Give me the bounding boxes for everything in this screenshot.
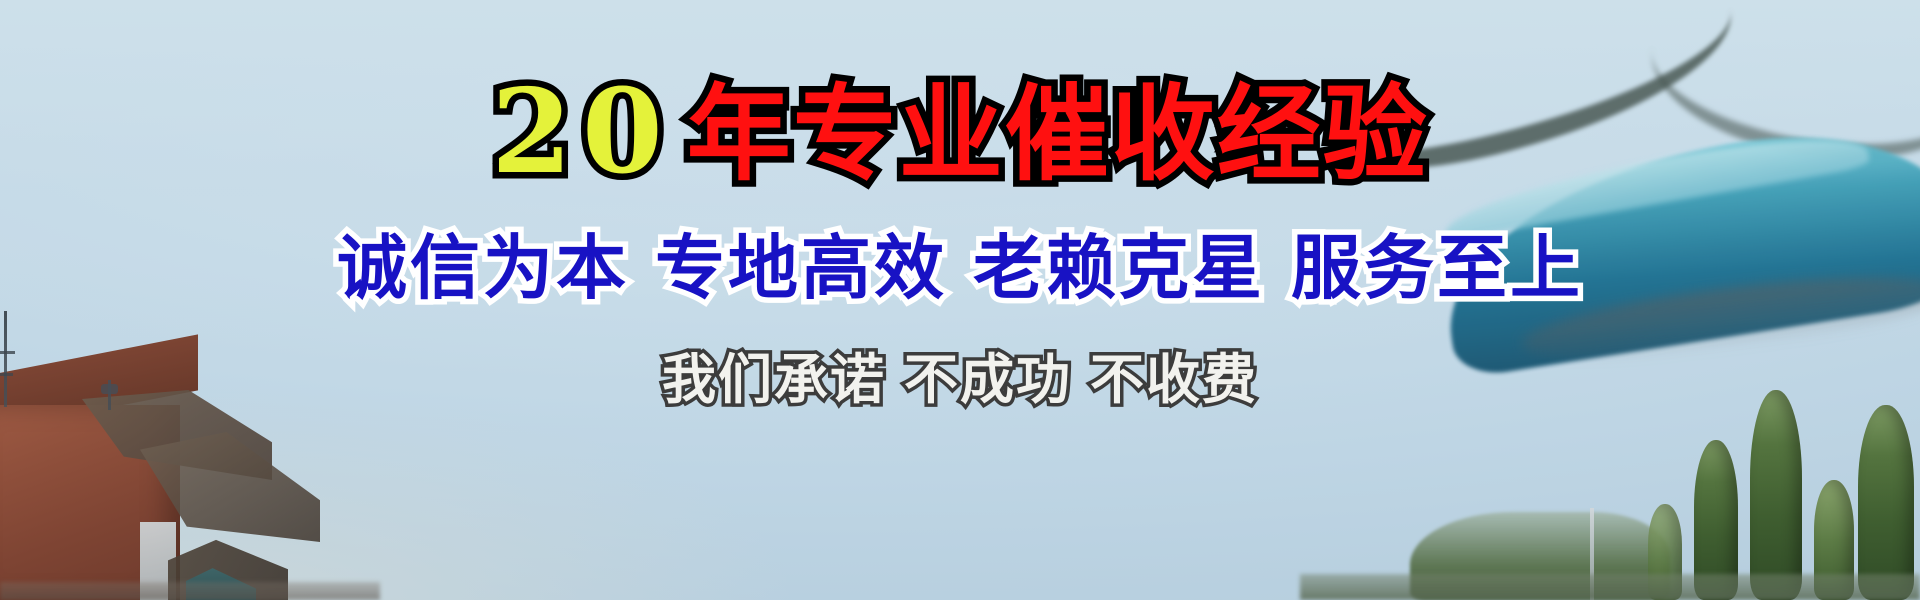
tagline: 我们承诺不成功不收费 <box>0 335 1920 414</box>
banner-copy: 20年专业催收经验 诚信为本专地高效老赖克星服务至上 我们承诺不成功不收费 <box>0 0 1920 600</box>
tagline-segment-1: 我们承诺 <box>662 348 886 411</box>
subheadline-segment-1: 诚信为本 <box>337 227 629 309</box>
subheadline-segment-4: 服务至上 <box>1291 227 1583 309</box>
tagline-segment-3: 不收费 <box>1090 348 1258 411</box>
subheadline-segment-2: 专地高效 <box>655 227 947 309</box>
headline: 20年专业催收经验 <box>0 64 1920 197</box>
subheadline: 诚信为本专地高效老赖克星服务至上 <box>0 212 1920 313</box>
promo-banner: 20年专业催收经验 诚信为本专地高效老赖克星服务至上 我们承诺不成功不收费 <box>0 0 1920 600</box>
tagline-segment-2: 不成功 <box>904 348 1072 411</box>
headline-text: 年专业催收经验 <box>687 75 1429 195</box>
headline-number: 20 <box>491 66 686 199</box>
subheadline-segment-3: 老赖克星 <box>973 227 1265 309</box>
